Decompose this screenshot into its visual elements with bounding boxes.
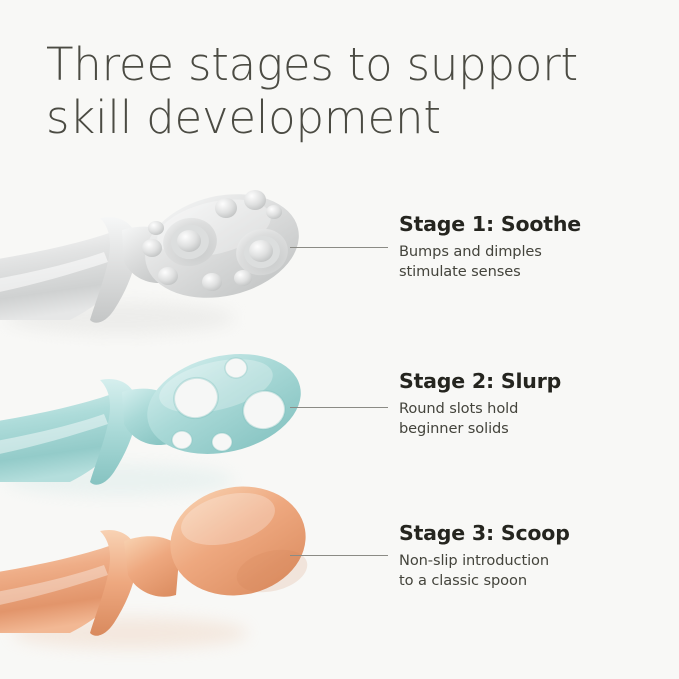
callout-body-stage-2: Round slots hold beginner solids — [399, 399, 649, 438]
leader-line-stage-1 — [290, 247, 388, 248]
leader-line-stage-3 — [290, 555, 388, 556]
callout-body-stage-2-line-2: beginner solids — [399, 419, 649, 439]
callout-body-stage-1-line-2: stimulate senses — [399, 262, 649, 282]
callout-stage-1: Stage 1: Soothe Bumps and dimples stimul… — [399, 212, 649, 281]
callout-body-stage-3-line-1: Non-slip introduction — [399, 551, 649, 571]
callout-heading-stage-2: Stage 2: Slurp — [399, 369, 649, 393]
leader-line-stage-2 — [290, 407, 388, 408]
callout-heading-stage-3: Stage 3: Scoop — [399, 521, 649, 545]
page-title-line-1: Three stages to support — [46, 38, 606, 91]
product-photo-area — [0, 170, 330, 679]
product-feature-image: Three stages to support skill developmen… — [0, 0, 679, 679]
callout-body-stage-1: Bumps and dimples stimulate senses — [399, 242, 649, 281]
callout-body-stage-3-line-2: to a classic spoon — [399, 571, 649, 591]
page-title: Three stages to support skill developmen… — [46, 38, 606, 144]
product-spoon-stage-3 — [0, 475, 330, 675]
callout-body-stage-2-line-1: Round slots hold — [399, 399, 649, 419]
page-title-line-2: skill development — [46, 91, 606, 144]
callout-stage-3: Stage 3: Scoop Non-slip introduction to … — [399, 521, 649, 590]
callout-body-stage-3: Non-slip introduction to a classic spoon — [399, 551, 649, 590]
callout-stage-2: Stage 2: Slurp Round slots hold beginner… — [399, 369, 649, 438]
callout-heading-stage-1: Stage 1: Soothe — [399, 212, 649, 236]
callout-body-stage-1-line-1: Bumps and dimples — [399, 242, 649, 262]
